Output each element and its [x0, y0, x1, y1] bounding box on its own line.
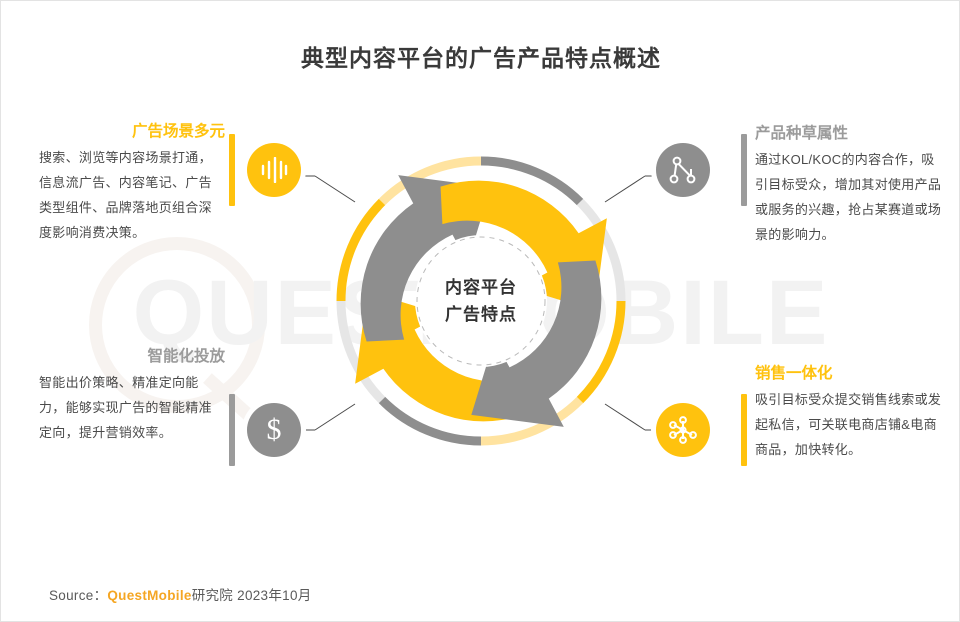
source-rest: 研究院 2023年10月 [192, 588, 312, 603]
share-node-icon-button[interactable] [656, 143, 710, 197]
waveform-icon [259, 157, 289, 183]
share-node-icon [668, 155, 698, 185]
block-product-seeding-body: 通过KOL/KOC的内容合作，吸引目标受众，增加其对使用产品或服务的兴趣，抢占某… [755, 148, 945, 248]
accent-bar-smart-delivery [229, 394, 235, 466]
block-ad-scenarios-body: 搜索、浏览等内容场景打通，信息流广告、内容笔记、广告类型组件、品牌落地页组合深度… [39, 146, 225, 246]
source-brand: QuestMobile [107, 588, 191, 603]
page-title: 典型内容平台的广告产品特点概述 [1, 39, 960, 73]
block-sales-integration-body: 吸引目标受众提交销售线索或发起私信，可关联电商店铺&电商商品，加快转化。 [755, 388, 945, 463]
block-sales-integration: 销售一体化 吸引目标受众提交销售线索或发起私信，可关联电商店铺&电商商品，加快转… [755, 363, 945, 463]
block-smart-delivery-heading: 智能化投放 [39, 346, 225, 368]
block-ad-scenarios-heading: 广告场景多元 [39, 121, 225, 143]
block-product-seeding-heading: 产品种草属性 [755, 123, 945, 145]
block-ad-scenarios: 广告场景多元 搜索、浏览等内容场景打通，信息流广告、内容笔记、广告类型组件、品牌… [39, 121, 225, 246]
hub-network-icon [667, 414, 699, 446]
source-footer: Source：QuestMobile研究院 2023年10月 [49, 584, 312, 604]
block-product-seeding: 产品种草属性 通过KOL/KOC的内容合作，吸引目标受众，增加其对使用产品或服务… [755, 123, 945, 248]
block-smart-delivery-body: 智能出价策略、精准定向能力，能够实现广告的智能精准定向，提升营销效率。 [39, 371, 225, 446]
source-label: Source： [49, 588, 107, 603]
waveform-icon-button[interactable] [247, 143, 301, 197]
dollar-icon: $ [267, 415, 282, 445]
block-smart-delivery: 智能化投放 智能出价策略、精准定向能力，能够实现广告的智能精准定向，提升营销效率… [39, 346, 225, 446]
accent-bar-sales-integration [741, 394, 747, 466]
cycle-diagram: 内容平台 广告特点 [326, 119, 636, 484]
infographic-page: QUESTMOBILE 典型内容平台的广告产品特点概述 [1, 1, 959, 621]
block-sales-integration-heading: 销售一体化 [755, 363, 945, 385]
dollar-icon-button[interactable]: $ [247, 403, 301, 457]
hub-network-icon-button[interactable] [656, 403, 710, 457]
accent-bar-ad-scenarios [229, 134, 235, 206]
center-disc [415, 235, 547, 367]
accent-bar-product-seeding [741, 134, 747, 206]
